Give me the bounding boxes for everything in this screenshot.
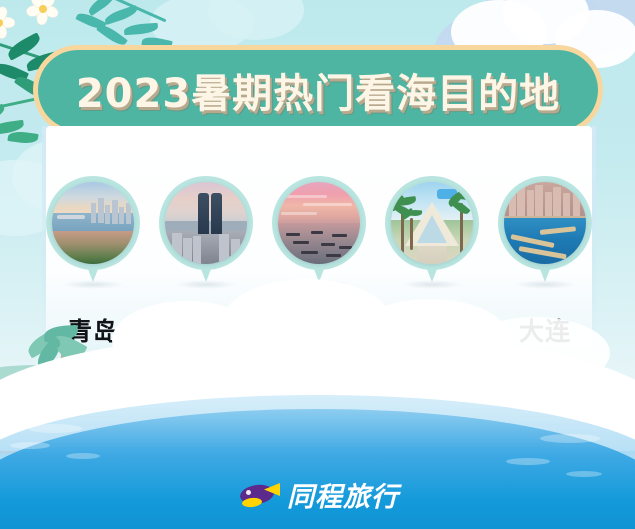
destination-photo-qingdao (52, 182, 134, 264)
destination-pin-list (46, 176, 592, 306)
destination-pin-zhoushan[interactable] (272, 176, 366, 294)
destination-photo-sanya (391, 182, 473, 264)
blimp-icon (236, 481, 280, 507)
destination-label-xiamen: 厦门 (159, 312, 253, 348)
title-banner: 2023暑期热门看海目的地 (33, 45, 603, 135)
plumeria-flower-icon (0, 8, 14, 38)
destination-photo-dalian (504, 182, 586, 264)
card-edge-right (592, 126, 596, 358)
destination-label-qingdao: 青岛 (46, 312, 140, 348)
ocean-band (0, 409, 635, 529)
destination-pin-sanya[interactable] (385, 176, 479, 294)
brand-logo[interactable]: 同程旅行 (236, 475, 399, 514)
poster-canvas: 2023暑期热门看海目的地 (0, 0, 635, 529)
page-title: 2023暑期热门看海目的地 (76, 61, 560, 119)
destination-pin-qingdao[interactable] (46, 176, 140, 294)
island-vegetation (0, 365, 155, 425)
plumeria-flower-icon (28, 0, 58, 24)
island-sand (0, 383, 170, 453)
footer-brand-bar: 同程旅行 (0, 459, 635, 529)
destination-label-list: 青岛 厦门 舟山 三亚 大连 (46, 312, 592, 348)
destination-label-dalian: 大连 (498, 312, 592, 348)
ocean-highlight (0, 395, 635, 523)
destination-pin-dalian[interactable] (498, 176, 592, 294)
destination-label-sanya: 三亚 (385, 312, 479, 348)
destination-pin-xiamen[interactable] (159, 176, 253, 294)
destination-photo-xiamen (165, 182, 247, 264)
destination-photo-zhoushan (278, 182, 360, 264)
destination-label-zhoushan: 舟山 (272, 312, 366, 348)
brand-name: 同程旅行 (287, 475, 399, 514)
banner-fill: 2023暑期热门看海目的地 (38, 50, 598, 130)
